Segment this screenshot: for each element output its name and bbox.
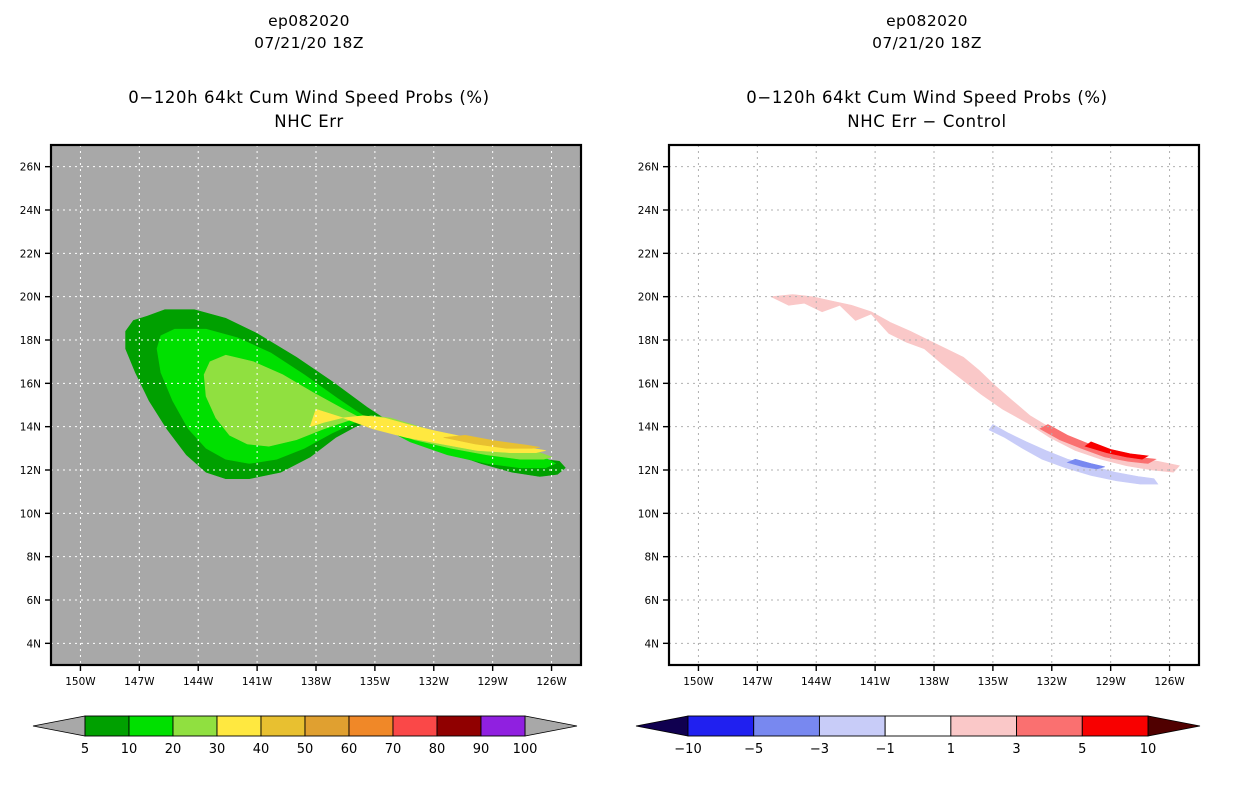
colorbar-swatch [819,716,885,736]
colorbar-tick-label: −1 [876,742,895,757]
colorbar-tick-label: 5 [81,742,89,757]
colorbar-tick-label: 5 [1078,742,1086,757]
colorbar-swatch [951,716,1017,736]
colorbar-swatch [129,716,173,736]
colorbar-under-arrow [33,716,85,736]
colorbar-over-arrow [1148,716,1200,736]
colorbar-tick-label: 1 [947,742,955,757]
colorbar-over-arrow [525,716,577,736]
colorbar-tick-label: 10 [121,742,138,757]
colorbar-swatch [305,716,349,736]
colorbar-tick-label: 3 [1012,742,1020,757]
colorbar-probability: 5102030405060708090100 [0,0,618,800]
colorbar-tick-label: 30 [209,742,226,757]
colorbar-swatch [481,716,525,736]
colorbar-swatch [173,716,217,736]
colorbar-under-arrow [636,716,688,736]
colorbar-swatch [85,716,129,736]
colorbar-swatch [1017,716,1083,736]
colorbar-tick-label: −3 [810,742,829,757]
colorbar-swatch [437,716,481,736]
colorbar-swatch [349,716,393,736]
colorbar-difference: −10−5−3−113510 [618,0,1236,800]
colorbar-tick-label: 90 [473,742,490,757]
colorbar-swatch [688,716,754,736]
colorbar-swatch [261,716,305,736]
colorbar-swatch [1082,716,1148,736]
colorbar-swatch [217,716,261,736]
colorbar-tick-label: 50 [297,742,314,757]
panel-nhc-err-minus-control: ep082020 07/21/20 18Z 0−120h 64kt Cum Wi… [618,0,1236,800]
colorbar-tick-label: 100 [513,742,538,757]
colorbar-tick-label: −10 [674,742,701,757]
colorbar-tick-label: −5 [744,742,763,757]
colorbar-swatch [754,716,820,736]
colorbar-swatch [393,716,437,736]
colorbar-tick-label: 60 [341,742,358,757]
colorbar-tick-label: 40 [253,742,270,757]
panel-nhc-err: ep082020 07/21/20 18Z 0−120h 64kt Cum Wi… [0,0,618,800]
colorbar-swatch [885,716,951,736]
colorbar-tick-label: 70 [385,742,402,757]
colorbar-tick-label: 80 [429,742,446,757]
colorbar-tick-label: 20 [165,742,182,757]
colorbar-tick-label: 10 [1140,742,1157,757]
